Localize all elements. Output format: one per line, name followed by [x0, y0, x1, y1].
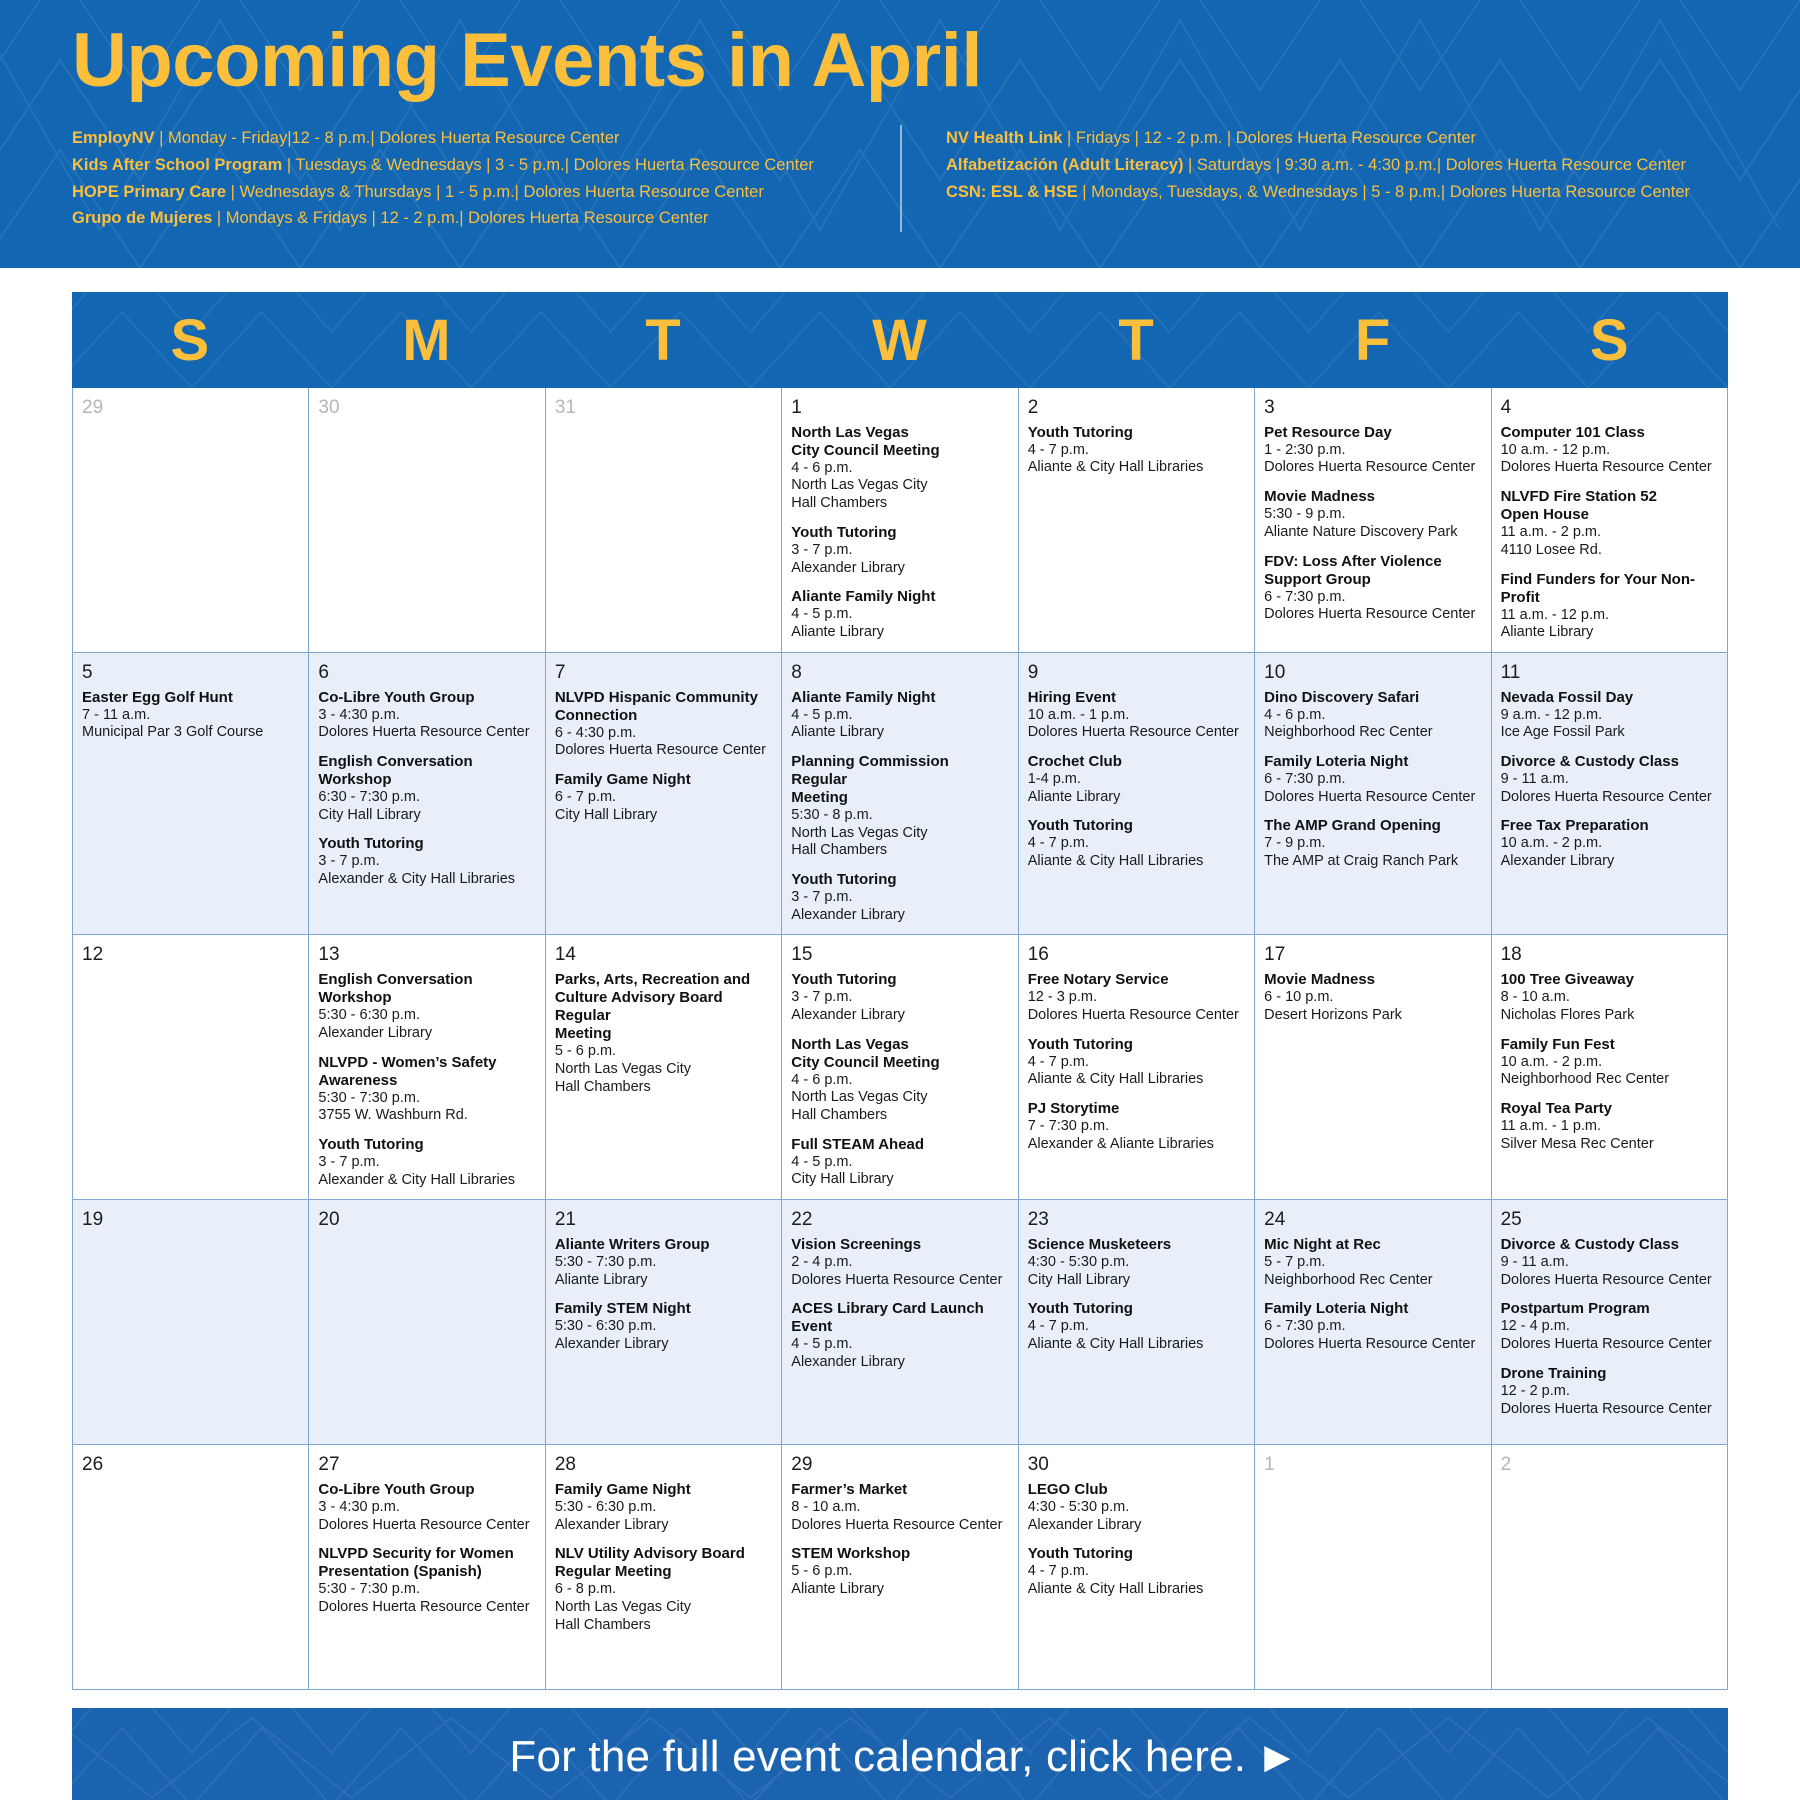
event-title: Full STEAM Ahead	[791, 1136, 1008, 1154]
calendar-event[interactable]: North Las VegasCity Council Meeting4 - 6…	[791, 1036, 1008, 1125]
calendar-event[interactable]: Divorce & Custody Class9 - 11 a.m.Dolore…	[1501, 1236, 1718, 1289]
calendar-event[interactable]: Pet Resource Day1 - 2:30 p.m.Dolores Hue…	[1264, 424, 1481, 477]
event-location: Aliante Library	[1028, 789, 1245, 807]
event-location: Ice Age Fossil Park	[1501, 724, 1718, 742]
calendar-event[interactable]: Family Loteria Night6 - 7:30 p.m.Dolores…	[1264, 753, 1481, 806]
event-title: Postpartum Program	[1501, 1300, 1718, 1318]
calendar-event[interactable]: NLV Utility Advisory BoardRegular Meetin…	[555, 1545, 772, 1634]
ongoing-program-item: Kids After School Program | Tuesdays & W…	[72, 152, 874, 179]
event-title: Youth Tutoring	[791, 971, 1008, 989]
event-time: 5:30 - 6:30 p.m.	[555, 1318, 772, 1336]
event-time: 3 - 4:30 p.m.	[318, 1499, 535, 1517]
event-location: Alexander Library	[1028, 1517, 1245, 1535]
event-location: North Las Vegas CityHall Chambers	[555, 1599, 772, 1634]
day-number: 22	[791, 1208, 1008, 1232]
event-time: 5:30 - 6:30 p.m.	[555, 1499, 772, 1517]
event-time: 7 - 9 p.m.	[1264, 835, 1481, 853]
event-title: North Las VegasCity Council Meeting	[791, 1036, 1008, 1072]
calendar-event[interactable]: Aliante Family Night4 - 5 p.m.Aliante Li…	[791, 689, 1008, 742]
calendar-event[interactable]: ACES Library Card Launch Event4 - 5 p.m.…	[791, 1300, 1008, 1371]
event-title: Free Tax Preparation	[1501, 817, 1718, 835]
calendar-event[interactable]: Co-Libre Youth Group3 - 4:30 p.m.Dolores…	[318, 1481, 535, 1534]
program-name: Kids After School Program	[72, 156, 282, 174]
calendar-day-cell[interactable]: 2	[1492, 1445, 1728, 1690]
event-time: 5 - 7 p.m.	[1264, 1254, 1481, 1272]
event-title: NLVFD Fire Station 52Open House	[1501, 488, 1718, 524]
event-location: Alexander Library	[318, 1025, 535, 1043]
program-name: NV Health Link	[946, 129, 1062, 147]
event-title: North Las VegasCity Council Meeting	[791, 424, 1008, 460]
weekday-header-0: S	[72, 307, 309, 374]
event-title: Aliante Family Night	[791, 689, 1008, 707]
ongoing-program-item: NV Health Link | Fridays | 12 - 2 p.m. |…	[946, 125, 1702, 152]
event-title: Youth Tutoring	[318, 835, 535, 853]
ongoing-program-item: HOPE Primary Care | Wednesdays & Thursda…	[72, 179, 874, 206]
event-title: Youth Tutoring	[1028, 1036, 1245, 1054]
event-time: 4:30 - 5:30 p.m.	[1028, 1254, 1245, 1272]
day-number: 5	[82, 661, 299, 685]
event-title: Hiring Event	[1028, 689, 1245, 707]
calendar-event[interactable]: Science Musketeers4:30 - 5:30 p.m.City H…	[1028, 1236, 1245, 1289]
event-title: Mic Night at Rec	[1264, 1236, 1481, 1254]
event-location: Aliante Nature Discovery Park	[1264, 524, 1481, 542]
day-number: 3	[1264, 396, 1481, 420]
event-title: Youth Tutoring	[791, 524, 1008, 542]
event-location: Aliante Library	[555, 1272, 772, 1290]
event-location: Dolores Huerta Resource Center	[791, 1517, 1008, 1535]
calendar-event[interactable]: Youth Tutoring4 - 7 p.m.Aliante & City H…	[1028, 1300, 1245, 1353]
calendar-event[interactable]: Family Game Night5:30 - 6:30 p.m.Alexand…	[555, 1481, 772, 1534]
event-title: Aliante Writers Group	[555, 1236, 772, 1254]
ongoing-program-item: Grupo de Mujeres | Mondays & Fridays | 1…	[72, 205, 874, 232]
event-time: 12 - 3 p.m.	[1028, 989, 1245, 1007]
event-time: 9 a.m. - 12 p.m.	[1501, 707, 1718, 725]
event-location: City Hall Library	[318, 807, 535, 825]
calendar-event[interactable]: North Las VegasCity Council Meeting4 - 6…	[791, 424, 1008, 513]
event-time: 4 - 7 p.m.	[1028, 1318, 1245, 1336]
events-calendar-page: Upcoming Events in April EmployNV | Mond…	[0, 0, 1800, 1800]
event-title: Movie Madness	[1264, 971, 1481, 989]
event-title: Crochet Club	[1028, 753, 1245, 771]
calendar-event[interactable]: Vision Screenings2 - 4 p.m.Dolores Huert…	[791, 1236, 1008, 1289]
calendar-event[interactable]: Youth Tutoring3 - 7 p.m.Alexander Librar…	[791, 524, 1008, 577]
event-time: 3 - 7 p.m.	[791, 542, 1008, 560]
day-number: 1	[791, 396, 1008, 420]
event-time: 3 - 7 p.m.	[318, 1154, 535, 1172]
calendar-day-cell[interactable]: 12	[73, 935, 309, 1200]
event-location: Alexander Library	[791, 560, 1008, 578]
calendar-event[interactable]: Aliante Writers Group5:30 - 7:30 p.m.Ali…	[555, 1236, 772, 1289]
event-time: 3 - 4:30 p.m.	[318, 707, 535, 725]
event-location: City Hall Library	[555, 807, 772, 825]
day-number: 11	[1501, 661, 1718, 685]
event-title: NLVPD Security for WomenPresentation (Sp…	[318, 1545, 535, 1581]
event-time: 5 - 6 p.m.	[791, 1563, 1008, 1581]
calendar-event[interactable]: Dino Discovery Safari4 - 6 p.m.Neighborh…	[1264, 689, 1481, 742]
day-number: 21	[555, 1208, 772, 1232]
event-location: Alexander & City Hall Libraries	[318, 871, 535, 889]
event-location: Dolores Huerta Resource Center	[1028, 724, 1245, 742]
event-time: 4 - 6 p.m.	[791, 1072, 1008, 1090]
event-location: Dolores Huerta Resource Center	[1264, 459, 1481, 477]
event-location: Desert Horizons Park	[1264, 1007, 1481, 1025]
event-location: Aliante & City Hall Libraries	[1028, 459, 1245, 477]
calendar-day-cell[interactable]: 28Family Game Night5:30 - 6:30 p.m.Alexa…	[546, 1445, 782, 1690]
day-number: 24	[1264, 1208, 1481, 1232]
event-location: City Hall Library	[1028, 1272, 1245, 1290]
event-title: Family Game Night	[555, 1481, 772, 1499]
event-title: Science Musketeers	[1028, 1236, 1245, 1254]
event-title: Parks, Arts, Recreation andCulture Advis…	[555, 971, 772, 1043]
calendar-day-cell[interactable]: 15Youth Tutoring3 - 7 p.m.Alexander Libr…	[782, 935, 1018, 1200]
calendar-event[interactable]: English Conversation Workshop5:30 - 6:30…	[318, 971, 535, 1042]
calendar-day-cell[interactable]: 25Divorce & Custody Class9 - 11 a.m.Dolo…	[1492, 1200, 1728, 1445]
day-number: 30	[1028, 1453, 1245, 1477]
calendar-event[interactable]: Free Tax Preparation10 a.m. - 2 p.m.Alex…	[1501, 817, 1718, 870]
event-location: Aliante Library	[1501, 624, 1718, 642]
event-title: Nevada Fossil Day	[1501, 689, 1718, 707]
calendar-event[interactable]: Youth Tutoring3 - 7 p.m.Alexander & City…	[318, 835, 535, 888]
event-location: Dolores Huerta Resource Center	[555, 742, 772, 760]
calendar-day-cell[interactable]: 1North Las VegasCity Council Meeting4 - …	[782, 388, 1018, 653]
ongoing-program-item: EmployNV | Monday - Friday|12 - 8 p.m.| …	[72, 125, 874, 152]
event-time: 8 - 10 a.m.	[791, 1499, 1008, 1517]
day-number: 14	[555, 943, 772, 967]
day-number: 23	[1028, 1208, 1245, 1232]
calendar-event[interactable]: Nevada Fossil Day9 a.m. - 12 p.m.Ice Age…	[1501, 689, 1718, 742]
event-time: 5 - 6 p.m.	[555, 1043, 772, 1061]
calendar-day-cell[interactable]: 3Pet Resource Day1 - 2:30 p.m.Dolores Hu…	[1255, 388, 1491, 653]
calendar-event[interactable]: English Conversation Workshop6:30 - 7:30…	[318, 753, 535, 824]
calendar-event[interactable]: Youth Tutoring4 - 7 p.m.Aliante & City H…	[1028, 1036, 1245, 1089]
day-number: 26	[82, 1453, 299, 1477]
day-number: 28	[555, 1453, 772, 1477]
event-title: Co-Libre Youth Group	[318, 689, 535, 707]
event-title: Planning Commission RegularMeeting	[791, 753, 1008, 807]
event-time: 6 - 7:30 p.m.	[1264, 1318, 1481, 1336]
calendar-event[interactable]: Royal Tea Party11 a.m. - 1 p.m.Silver Me…	[1501, 1100, 1718, 1153]
program-details: | Wednesdays & Thursdays | 1 - 5 p.m.| D…	[226, 183, 764, 201]
calendar-event[interactable]: Youth Tutoring4 - 7 p.m.Aliante & City H…	[1028, 424, 1245, 477]
calendar-event[interactable]: Parks, Arts, Recreation andCulture Advis…	[555, 971, 772, 1096]
calendar-event[interactable]: Movie Madness6 - 10 p.m.Desert Horizons …	[1264, 971, 1481, 1024]
day-number: 17	[1264, 943, 1481, 967]
calendar-day-cell[interactable]: 18100 Tree Giveaway8 - 10 a.m.Nicholas F…	[1492, 935, 1728, 1200]
event-location: North Las Vegas CityHall Chambers	[791, 825, 1008, 860]
event-title: English Conversation Workshop	[318, 971, 535, 1007]
calendar-day-cell[interactable]: 26	[73, 1445, 309, 1690]
calendar-day-cell[interactable]: 5Easter Egg Golf Hunt7 - 11 a.m.Municipa…	[73, 653, 309, 936]
event-location: Silver Mesa Rec Center	[1501, 1136, 1718, 1154]
event-location: Aliante & City Hall Libraries	[1028, 1336, 1245, 1354]
calendar-event[interactable]: Mic Night at Rec5 - 7 p.m.Neighborhood R…	[1264, 1236, 1481, 1289]
cta-text-wrap: For the full event calendar, click here.…	[509, 1732, 1290, 1782]
calendar-event[interactable]: Crochet Club1-4 p.m.Aliante Library	[1028, 753, 1245, 806]
calendar-event[interactable]: Planning Commission RegularMeeting5:30 -…	[791, 753, 1008, 860]
program-name: Alfabetización (Adult Literacy)	[946, 156, 1183, 174]
event-time: 12 - 4 p.m.	[1501, 1318, 1718, 1336]
weekday-header-4: T	[1018, 307, 1255, 374]
event-location: 4110 Losee Rd.	[1501, 542, 1718, 560]
calendar-event[interactable]: Family Game Night6 - 7 p.m.City Hall Lib…	[555, 771, 772, 824]
weekday-header-6: S	[1491, 307, 1728, 374]
event-title: Family STEM Night	[555, 1300, 772, 1318]
calendar-day-cell[interactable]: 19	[73, 1200, 309, 1445]
calendar-day-cell[interactable]: 13English Conversation Workshop5:30 - 6:…	[309, 935, 545, 1200]
program-name: EmployNV	[72, 129, 155, 147]
calendar-day-cell[interactable]: 29	[73, 388, 309, 653]
calendar-day-cell[interactable]: 6Co-Libre Youth Group3 - 4:30 p.m.Dolore…	[309, 653, 545, 936]
event-location: Municipal Par 3 Golf Course	[82, 724, 299, 742]
event-title: Youth Tutoring	[791, 871, 1008, 889]
calendar-day-cell[interactable]: 23Science Musketeers4:30 - 5:30 p.m.City…	[1019, 1200, 1255, 1445]
event-time: 6 - 7 p.m.	[555, 789, 772, 807]
event-title: Youth Tutoring	[1028, 1545, 1245, 1563]
event-title: Youth Tutoring	[1028, 424, 1245, 442]
calendar-event[interactable]: Full STEAM Ahead4 - 5 p.m.City Hall Libr…	[791, 1136, 1008, 1189]
event-time: 6 - 8 p.m.	[555, 1581, 772, 1599]
day-number: 18	[1501, 943, 1718, 967]
event-location: Dolores Huerta Resource Center	[318, 1517, 535, 1535]
program-details: | Mondays & Fridays | 12 - 2 p.m.| Dolor…	[212, 209, 708, 227]
event-time: 4 - 7 p.m.	[1028, 1054, 1245, 1072]
day-number: 10	[1264, 661, 1481, 685]
event-title: Family Loteria Night	[1264, 753, 1481, 771]
calendar-event[interactable]: STEM Workshop5 - 6 p.m.Aliante Library	[791, 1545, 1008, 1598]
event-location: Alexander Library	[1501, 853, 1718, 871]
event-time: 4 - 6 p.m.	[1264, 707, 1481, 725]
day-number: 15	[791, 943, 1008, 967]
event-time: 10 a.m. - 2 p.m.	[1501, 835, 1718, 853]
calendar-event[interactable]: Divorce & Custody Class9 - 11 a.m.Dolore…	[1501, 753, 1718, 806]
event-title: NLVPD - Women’s SafetyAwareness	[318, 1054, 535, 1090]
calendar-day-cell[interactable]: 20	[309, 1200, 545, 1445]
event-time: 4 - 7 p.m.	[1028, 1563, 1245, 1581]
day-number: 2	[1028, 396, 1245, 420]
calendar-event[interactable]: Find Funders for Your Non-Profit11 a.m. …	[1501, 571, 1718, 642]
event-location: The AMP at Craig Ranch Park	[1264, 853, 1481, 871]
event-title: English Conversation Workshop	[318, 753, 535, 789]
ongoing-program-item: CSN: ESL & HSE | Mondays, Tuesdays, & We…	[946, 179, 1702, 206]
calendar-day-cell[interactable]: 24Mic Night at Rec5 - 7 p.m.Neighborhood…	[1255, 1200, 1491, 1445]
event-title: Youth Tutoring	[1028, 1300, 1245, 1318]
event-time: 4:30 - 5:30 p.m.	[1028, 1499, 1245, 1517]
event-title: STEM Workshop	[791, 1545, 1008, 1563]
event-time: 4 - 6 p.m.	[791, 460, 1008, 478]
day-number: 20	[318, 1208, 535, 1232]
calendar-day-cell[interactable]: 31	[546, 388, 782, 653]
calendar-day-cell[interactable]: 21Aliante Writers Group5:30 - 7:30 p.m.A…	[546, 1200, 782, 1445]
arrow-right-icon: ▶	[1264, 1740, 1290, 1774]
weekday-header-2: T	[545, 307, 782, 374]
event-time: 11 a.m. - 1 p.m.	[1501, 1118, 1718, 1136]
event-title: NLVPD Hispanic CommunityConnection	[555, 689, 772, 725]
calendar-day-cell[interactable]: 9Hiring Event10 a.m. - 1 p.m.Dolores Hue…	[1019, 653, 1255, 936]
event-time: 4 - 5 p.m.	[791, 707, 1008, 725]
event-title: Divorce & Custody Class	[1501, 753, 1718, 771]
event-title: NLV Utility Advisory BoardRegular Meetin…	[555, 1545, 772, 1581]
event-time: 11 a.m. - 12 p.m.	[1501, 607, 1718, 625]
calendar-event[interactable]: Hiring Event10 a.m. - 1 p.m.Dolores Huer…	[1028, 689, 1245, 742]
event-time: 12 - 2 p.m.	[1501, 1383, 1718, 1401]
calendar-header: Upcoming Events in April EmployNV | Mond…	[0, 0, 1800, 268]
calendar-day-cell[interactable]: 2Youth Tutoring4 - 7 p.m.Aliante & City …	[1019, 388, 1255, 653]
day-number: 12	[82, 943, 299, 967]
calendar-event[interactable]: Aliante Family Night4 - 5 p.m.Aliante Li…	[791, 588, 1008, 641]
event-location: Neighborhood Rec Center	[1264, 1272, 1481, 1290]
event-location: Nicholas Flores Park	[1501, 1007, 1718, 1025]
calendar-event[interactable]: Youth Tutoring3 - 7 p.m.Alexander Librar…	[791, 871, 1008, 924]
event-time: 6:30 - 7:30 p.m.	[318, 789, 535, 807]
event-location: Dolores Huerta Resource Center	[318, 1599, 535, 1617]
calendar-event[interactable]: Family Loteria Night6 - 7:30 p.m.Dolores…	[1264, 1300, 1481, 1353]
event-location: Alexander Library	[555, 1336, 772, 1354]
event-title: Movie Madness	[1264, 488, 1481, 506]
event-time: 6 - 7:30 p.m.	[1264, 771, 1481, 789]
calendar-event[interactable]: Youth Tutoring4 - 7 p.m.Aliante & City H…	[1028, 1545, 1245, 1598]
calendar-event[interactable]: NLVPD - Women’s SafetyAwareness5:30 - 7:…	[318, 1054, 535, 1125]
calendar-grid: 2930311North Las VegasCity Council Meeti…	[72, 388, 1728, 1690]
day-number: 4	[1501, 396, 1718, 420]
event-location: Dolores Huerta Resource Center	[318, 724, 535, 742]
calendar-event[interactable]: NLVFD Fire Station 52Open House11 a.m. -…	[1501, 488, 1718, 559]
event-time: 7 - 7:30 p.m.	[1028, 1118, 1245, 1136]
event-time: 3 - 7 p.m.	[791, 989, 1008, 1007]
event-title: Co-Libre Youth Group	[318, 1481, 535, 1499]
calendar-day-cell[interactable]: 30LEGO Club4:30 - 5:30 p.m.Alexander Lib…	[1019, 1445, 1255, 1690]
event-title: Drone Training	[1501, 1365, 1718, 1383]
calendar-event[interactable]: NLVPD Hispanic CommunityConnection6 - 4:…	[555, 689, 772, 760]
event-location: Neighborhood Rec Center	[1264, 724, 1481, 742]
event-location: Alexander Library	[791, 1007, 1008, 1025]
event-time: 4 - 5 p.m.	[791, 1154, 1008, 1172]
event-time: 3 - 7 p.m.	[318, 853, 535, 871]
calendar-event[interactable]: Computer 101 Class10 a.m. - 12 p.m.Dolor…	[1501, 424, 1718, 477]
calendar-day-cell[interactable]: 1	[1255, 1445, 1491, 1690]
calendar-event[interactable]: Farmer’s Market8 - 10 a.m.Dolores Huerta…	[791, 1481, 1008, 1534]
calendar-event[interactable]: Drone Training12 - 2 p.m.Dolores Huerta …	[1501, 1365, 1718, 1418]
event-location: Alexander & City Hall Libraries	[318, 1172, 535, 1190]
event-location: Dolores Huerta Resource Center	[1264, 1336, 1481, 1354]
event-title: Vision Screenings	[791, 1236, 1008, 1254]
day-number: 19	[82, 1208, 299, 1232]
calendar-event[interactable]: Family STEM Night5:30 - 6:30 p.m.Alexand…	[555, 1300, 772, 1353]
event-time: 5:30 - 8 p.m.	[791, 807, 1008, 825]
calendar-event[interactable]: Youth Tutoring4 - 7 p.m.Aliante & City H…	[1028, 817, 1245, 870]
calendar-event[interactable]: Easter Egg Golf Hunt7 - 11 a.m.Municipal…	[82, 689, 299, 742]
programs-column-left: EmployNV | Monday - Friday|12 - 8 p.m.| …	[72, 125, 900, 232]
weekday-header-bar: SMTWTFS	[72, 292, 1728, 388]
calendar-day-cell[interactable]: 30	[309, 388, 545, 653]
event-title: ACES Library Card Launch Event	[791, 1300, 1008, 1336]
calendar-day-cell[interactable]: 11Nevada Fossil Day9 a.m. - 12 p.m.Ice A…	[1492, 653, 1728, 936]
event-time: 4 - 5 p.m.	[791, 606, 1008, 624]
calendar-day-cell[interactable]: 14Parks, Arts, Recreation andCulture Adv…	[546, 935, 782, 1200]
event-title: Computer 101 Class	[1501, 424, 1718, 442]
program-details: | Fridays | 12 - 2 p.m. | Dolores Huerta…	[1062, 129, 1476, 147]
event-location: Alexander Library	[555, 1517, 772, 1535]
calendar-day-cell[interactable]: 7NLVPD Hispanic CommunityConnection6 - 4…	[546, 653, 782, 936]
event-time: 5:30 - 7:30 p.m.	[555, 1254, 772, 1272]
event-title: LEGO Club	[1028, 1481, 1245, 1499]
event-title: Royal Tea Party	[1501, 1100, 1718, 1118]
event-title: Find Funders for Your Non-Profit	[1501, 571, 1718, 607]
event-title: Dino Discovery Safari	[1264, 689, 1481, 707]
calendar-day-cell[interactable]: 22Vision Screenings2 - 4 p.m.Dolores Hue…	[782, 1200, 1018, 1445]
weekday-header-5: F	[1255, 307, 1492, 374]
event-time: 5:30 - 7:30 p.m.	[318, 1581, 535, 1599]
calendar-event[interactable]: FDV: Loss After ViolenceSupport Group6 -…	[1264, 553, 1481, 624]
event-title: Youth Tutoring	[1028, 817, 1245, 835]
calendar-event[interactable]: Youth Tutoring3 - 7 p.m.Alexander Librar…	[791, 971, 1008, 1024]
day-number: 31	[555, 396, 772, 420]
event-time: 6 - 4:30 p.m.	[555, 725, 772, 743]
calendar-day-cell[interactable]: 29Farmer’s Market8 - 10 a.m.Dolores Huer…	[782, 1445, 1018, 1690]
day-number: 6	[318, 661, 535, 685]
calendar-day-cell[interactable]: 27Co-Libre Youth Group3 - 4:30 p.m.Dolor…	[309, 1445, 545, 1690]
calendar-event[interactable]: NLVPD Security for WomenPresentation (Sp…	[318, 1545, 535, 1616]
event-time: 9 - 11 a.m.	[1501, 1254, 1718, 1272]
event-time: 6 - 10 p.m.	[1264, 989, 1481, 1007]
calendar-day-cell[interactable]: 17Movie Madness6 - 10 p.m.Desert Horizon…	[1255, 935, 1491, 1200]
calendar-event[interactable]: LEGO Club4:30 - 5:30 p.m.Alexander Libra…	[1028, 1481, 1245, 1534]
ongoing-program-item: Alfabetización (Adult Literacy) | Saturd…	[946, 152, 1702, 179]
event-location: Aliante Library	[791, 1581, 1008, 1599]
event-time: 4 - 7 p.m.	[1028, 835, 1245, 853]
calendar-day-cell[interactable]: 8Aliante Family Night4 - 5 p.m.Aliante L…	[782, 653, 1018, 936]
event-title: The AMP Grand Opening	[1264, 817, 1481, 835]
calendar-event[interactable]: Family Fun Fest10 a.m. - 2 p.m.Neighborh…	[1501, 1036, 1718, 1089]
event-location: 3755 W. Washburn Rd.	[318, 1107, 535, 1125]
event-time: 6 - 7:30 p.m.	[1264, 589, 1481, 607]
event-location: Dolores Huerta Resource Center	[1501, 459, 1718, 477]
page-title: Upcoming Events in April	[72, 18, 1728, 103]
event-location: Aliante & City Hall Libraries	[1028, 853, 1245, 871]
calendar-event[interactable]: Movie Madness5:30 - 9 p.m.Aliante Nature…	[1264, 488, 1481, 541]
program-name: Grupo de Mujeres	[72, 209, 212, 227]
event-location: Aliante Library	[791, 724, 1008, 742]
event-title: PJ Storytime	[1028, 1100, 1245, 1118]
calendar-event[interactable]: Co-Libre Youth Group3 - 4:30 p.m.Dolores…	[318, 689, 535, 742]
event-time: 8 - 10 a.m.	[1501, 989, 1718, 1007]
weekday-header-3: W	[782, 307, 1019, 374]
event-time: 11 a.m. - 2 p.m.	[1501, 524, 1718, 542]
day-number: 1	[1264, 1453, 1481, 1477]
calendar-event[interactable]: 100 Tree Giveaway8 - 10 a.m.Nicholas Flo…	[1501, 971, 1718, 1024]
calendar-event[interactable]: Youth Tutoring3 - 7 p.m.Alexander & City…	[318, 1136, 535, 1189]
full-calendar-cta-banner[interactable]: For the full event calendar, click here.…	[72, 1708, 1728, 1800]
event-time: 1-4 p.m.	[1028, 771, 1245, 789]
calendar-event[interactable]: Free Notary Service12 - 3 p.m.Dolores Hu…	[1028, 971, 1245, 1024]
calendar-event[interactable]: The AMP Grand Opening7 - 9 p.m.The AMP a…	[1264, 817, 1481, 870]
day-number: 27	[318, 1453, 535, 1477]
calendar-event[interactable]: PJ Storytime7 - 7:30 p.m.Alexander & Ali…	[1028, 1100, 1245, 1153]
event-title: Divorce & Custody Class	[1501, 1236, 1718, 1254]
event-title: Family Loteria Night	[1264, 1300, 1481, 1318]
event-time: 9 - 11 a.m.	[1501, 771, 1718, 789]
calendar-day-cell[interactable]: 16Free Notary Service12 - 3 p.m.Dolores …	[1019, 935, 1255, 1200]
event-location: Dolores Huerta Resource Center	[1264, 789, 1481, 807]
calendar-day-cell[interactable]: 10Dino Discovery Safari4 - 6 p.m.Neighbo…	[1255, 653, 1491, 936]
event-location: Aliante & City Hall Libraries	[1028, 1581, 1245, 1599]
day-number: 8	[791, 661, 1008, 685]
calendar-day-cell[interactable]: 4Computer 101 Class10 a.m. - 12 p.m.Dolo…	[1492, 388, 1728, 653]
program-details: | Tuesdays & Wednesdays | 3 - 5 p.m.| Do…	[282, 156, 814, 174]
calendar-event[interactable]: Postpartum Program12 - 4 p.m.Dolores Hue…	[1501, 1300, 1718, 1353]
event-time: 10 a.m. - 2 p.m.	[1501, 1054, 1718, 1072]
day-number: 2	[1501, 1453, 1718, 1477]
event-location: Dolores Huerta Resource Center	[1501, 1272, 1718, 1290]
